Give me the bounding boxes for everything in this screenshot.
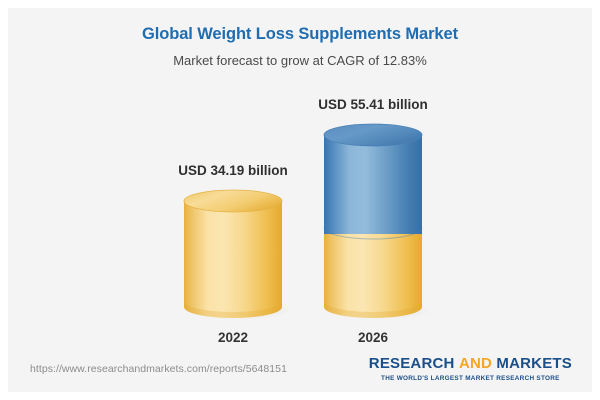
logo-word-and: AND	[459, 355, 492, 372]
bar-value-label-2026: USD 55.41 billion	[306, 97, 440, 113]
bar-group-2022: USD 34.19 billion	[176, 163, 290, 343]
logo-wordmark: RESEARCH AND MARKETS	[369, 355, 572, 372]
cylinder-top-2022	[184, 190, 282, 212]
chart-card: Global Weight Loss Supplements Market Ma…	[8, 8, 592, 392]
report-url-link[interactable]: https://www.researchandmarkets.com/repor…	[30, 362, 287, 376]
bar-value-label-2022: USD 34.19 billion	[166, 163, 300, 179]
chart-footer: https://www.researchandmarkets.com/repor…	[8, 348, 592, 392]
bar-group-2026: USD 55.41 billion	[316, 97, 430, 343]
cylinder-body-base-2026	[324, 228, 422, 318]
logo-word-research: RESEARCH	[369, 355, 455, 372]
chart-plot-area: USD 34.19 billion	[8, 8, 592, 392]
cylinder-body-2022	[184, 201, 282, 318]
category-label-2022: 2022	[166, 330, 300, 346]
research-and-markets-logo: RESEARCH AND MARKETS THE WORLD'S LARGEST…	[369, 355, 572, 383]
cylinder-2022	[176, 189, 290, 323]
logo-word-markets: MARKETS	[496, 355, 572, 372]
logo-tagline: THE WORLD'S LARGEST MARKET RESEARCH STOR…	[369, 372, 572, 383]
category-label-2026: 2026	[306, 330, 440, 346]
cylinder-2026	[316, 123, 430, 323]
cylinder-top-2026	[324, 124, 422, 146]
